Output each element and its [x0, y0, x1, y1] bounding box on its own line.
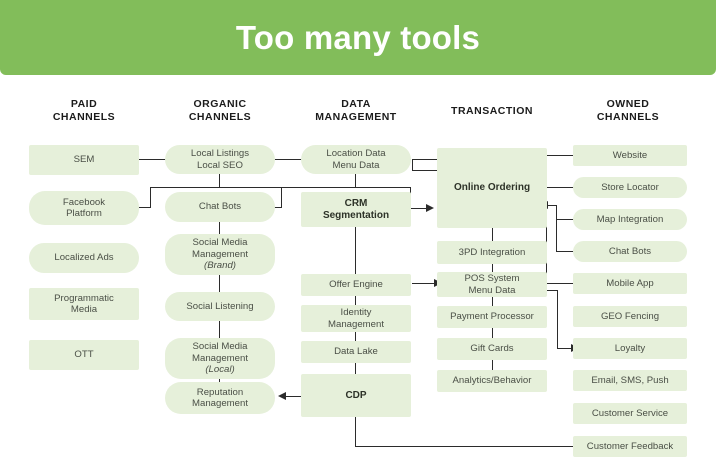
node-reputation-management[interactable]: ReputationManagement	[165, 382, 275, 414]
node-3pd-integration-label: 3PD Integration	[459, 247, 526, 259]
connector-bus-down-left	[150, 187, 151, 208]
node-pos-system[interactable]: POS SystemMenu Data	[437, 272, 547, 297]
connector-owned-bracket-top	[556, 219, 574, 220]
node-sem-label: SEM	[74, 154, 95, 166]
node-email-sms-push-label: Email, SMS, Push	[591, 375, 668, 387]
column-header-transaction-line1: TRANSACTION	[428, 105, 556, 118]
node-website-label: Website	[613, 150, 647, 162]
node-online-ordering[interactable]: Online Ordering	[437, 148, 547, 228]
connector-locallistings-down	[219, 173, 220, 188]
node-crm-segmentation[interactable]: CRMSegmentation	[301, 192, 411, 227]
node-identity-management[interactable]: IdentityManagement	[301, 305, 411, 332]
node-local-listings[interactable]: Local ListingsLocal SEO	[165, 145, 275, 174]
node-customer-service[interactable]: Customer Service	[573, 403, 687, 424]
node-identity-management-label: IdentityManagement	[328, 307, 384, 330]
node-data-lake-label: Data Lake	[334, 346, 378, 358]
node-ott-label: OTT	[74, 349, 93, 361]
column-header-paid-line2: CHANNELS	[20, 111, 148, 124]
node-website[interactable]: Website	[573, 145, 687, 166]
node-programmatic-media-label: ProgrammaticMedia	[54, 293, 114, 316]
column-header-data-line2: MANAGEMENT	[292, 111, 420, 124]
node-crm-segmentation-label: CRMSegmentation	[323, 198, 389, 221]
node-programmatic-media[interactable]: ProgrammaticMedia	[29, 288, 139, 320]
node-loyalty-label: Loyalty	[615, 343, 645, 355]
connector-owned-bracket-up	[556, 205, 557, 220]
node-store-locator-label: Store Locator	[601, 182, 659, 194]
connector-owned-bracket-vert	[556, 219, 557, 252]
node-payment-processor[interactable]: Payment Processor	[437, 306, 547, 328]
connector-onlineordering-to-website	[546, 155, 574, 156]
node-analytics-behavior[interactable]: Analytics/Behavior	[437, 370, 547, 392]
column-header-organic-line2: CHANNELS	[156, 111, 284, 124]
node-cdp[interactable]: CDP	[301, 374, 411, 417]
node-mobile-app-label: Mobile App	[606, 278, 653, 290]
connector-cdp-down	[355, 416, 356, 447]
connector-locationdata-step-h	[412, 170, 440, 171]
connector-sociallistening-to-socialmedia-local	[219, 320, 220, 339]
connector-payment-to-giftcards	[492, 327, 493, 338]
node-gift-cards-label: Gift Cards	[470, 343, 513, 355]
column-header-owned: OWNED CHANNELS	[564, 98, 692, 124]
connector-socialmedia-brand-to-sociallistening	[219, 274, 220, 293]
column-header-data-line1: DATA	[292, 98, 420, 111]
node-location-data[interactable]: Location DataMenu Data	[301, 145, 411, 174]
node-chat-bots-owned[interactable]: Chat Bots	[573, 241, 687, 262]
diagram-canvas: Too many tools PAID CHANNELS ORGANIC CHA…	[0, 0, 716, 474]
node-customer-feedback-label: Customer Feedback	[587, 441, 673, 453]
connector-pos-node-stub	[546, 283, 558, 284]
connector-main-bus	[150, 187, 410, 188]
node-customer-service-label: Customer Service	[592, 408, 668, 420]
column-header-owned-line2: CHANNELS	[564, 111, 692, 124]
node-facebook-platform[interactable]: FacebookPlatform	[29, 191, 139, 225]
node-email-sms-push[interactable]: Email, SMS, Push	[573, 370, 687, 391]
node-offer-engine[interactable]: Offer Engine	[301, 274, 411, 296]
node-social-media-brand-label: Social MediaManagement(Brand)	[192, 237, 248, 272]
connector-offerengine-to-pos	[412, 283, 436, 284]
column-header-data: DATA MANAGEMENT	[292, 98, 420, 124]
arrowhead-into-online-ordering-left	[426, 204, 434, 212]
node-social-listening[interactable]: Social Listening	[165, 292, 275, 321]
node-gift-cards[interactable]: Gift Cards	[437, 338, 547, 360]
node-social-listening-label: Social Listening	[186, 301, 253, 313]
node-social-media-brand[interactable]: Social MediaManagement(Brand)	[165, 234, 275, 275]
node-customer-feedback[interactable]: Customer Feedback	[573, 436, 687, 457]
node-map-integration-label: Map Integration	[597, 214, 664, 226]
connector-bus-down-chatbots	[281, 187, 282, 208]
node-loyalty[interactable]: Loyalty	[573, 338, 687, 359]
column-header-paid-line1: PAID	[20, 98, 148, 111]
node-mobile-app[interactable]: Mobile App	[573, 273, 687, 294]
connector-cdp-to-customerfeedback	[355, 446, 574, 447]
node-social-media-local[interactable]: Social MediaManagement(Local)	[165, 338, 275, 379]
node-localized-ads-label: Localized Ads	[54, 252, 113, 264]
node-sem[interactable]: SEM	[29, 145, 139, 175]
column-header-organic: ORGANIC CHANNELS	[156, 98, 284, 124]
header-banner: Too many tools	[0, 0, 716, 75]
node-map-integration[interactable]: Map Integration	[573, 209, 687, 230]
node-3pd-integration[interactable]: 3PD Integration	[437, 241, 547, 264]
connector-onlineordering-to-storelocator	[546, 187, 574, 188]
connector-locationdata-to-onlineordering	[412, 159, 440, 160]
node-localized-ads[interactable]: Localized Ads	[29, 243, 139, 273]
page-title: Too many tools	[236, 19, 480, 57]
node-store-locator[interactable]: Store Locator	[573, 177, 687, 198]
node-chat-bots-organic-label: Chat Bots	[199, 201, 241, 213]
column-header-organic-line1: ORGANIC	[156, 98, 284, 111]
arrowhead-into-reputation-management	[278, 392, 286, 400]
column-header-transaction: TRANSACTION	[428, 105, 556, 118]
connector-crm-to-offerengine	[355, 226, 356, 276]
node-online-ordering-label: Online Ordering	[454, 182, 530, 194]
node-analytics-behavior-label: Analytics/Behavior	[453, 375, 532, 387]
node-geo-fencing[interactable]: GEO Fencing	[573, 306, 687, 327]
node-data-lake[interactable]: Data Lake	[301, 341, 411, 363]
node-payment-processor-label: Payment Processor	[450, 311, 534, 323]
connector-owned-chatbots-in	[556, 251, 574, 252]
node-geo-fencing-label: GEO Fencing	[601, 311, 659, 323]
connector-pos-down-to-loyalty	[557, 290, 558, 349]
column-header-paid: PAID CHANNELS	[20, 98, 148, 124]
node-cdp-label: CDP	[345, 390, 366, 402]
node-offer-engine-label: Offer Engine	[329, 279, 383, 291]
column-header-owned-line1: OWNED	[564, 98, 692, 111]
node-facebook-platform-label: FacebookPlatform	[63, 197, 105, 220]
node-local-listings-label: Local ListingsLocal SEO	[191, 148, 249, 171]
connector-locationdata-down	[355, 173, 356, 188]
node-chat-bots-organic[interactable]: Chat Bots	[165, 192, 275, 222]
node-social-media-local-label: Social MediaManagement(Local)	[192, 341, 248, 376]
node-location-data-label: Location DataMenu Data	[326, 148, 385, 171]
node-reputation-management-label: ReputationManagement	[192, 387, 248, 410]
node-chat-bots-owned-label: Chat Bots	[609, 246, 651, 258]
node-ott[interactable]: OTT	[29, 340, 139, 370]
node-pos-system-label: POS SystemMenu Data	[465, 273, 520, 296]
